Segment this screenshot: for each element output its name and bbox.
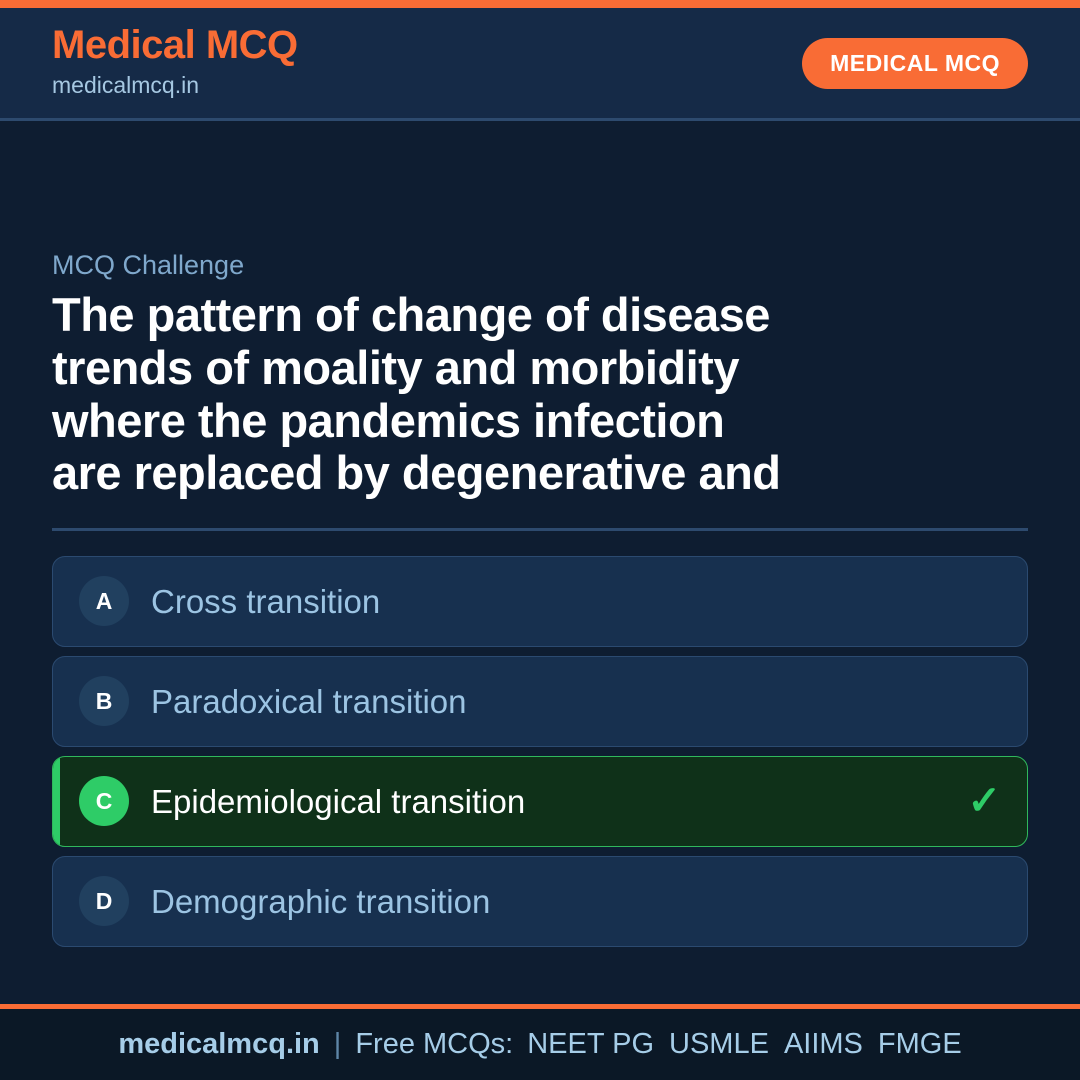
brand-subtitle: medicalmcq.in — [52, 68, 298, 103]
footer-bar: medicalmcq.in | Free MCQs: NEET PG USMLE… — [0, 1004, 1080, 1080]
option-letter-badge: C — [79, 776, 129, 826]
check-icon: ✓ — [967, 781, 1001, 821]
option-label: Paradoxical transition — [151, 682, 467, 722]
option-letter-badge: A — [79, 576, 129, 626]
options-list: A Cross transition ✓ B Paradoxical trans… — [52, 556, 1028, 947]
content-area: MCQ Challenge The pattern of change of d… — [0, 121, 1080, 1004]
header-badge: MEDICAL MCQ — [802, 38, 1028, 89]
option-letter-badge: D — [79, 876, 129, 926]
top-accent-bar — [0, 0, 1080, 8]
mcq-card: Medical MCQ medicalmcq.in MEDICAL MCQ MC… — [0, 0, 1080, 1080]
option-b[interactable]: B Paradoxical transition ✓ — [52, 656, 1028, 747]
footer-exam-item: USMLE — [669, 1028, 769, 1061]
footer-exam-item: FMGE — [878, 1028, 962, 1061]
option-label: Cross transition — [151, 582, 380, 622]
option-label: Epidemiological transition — [151, 782, 525, 822]
option-label: Demographic transition — [151, 882, 490, 922]
footer-separator: | — [334, 1028, 342, 1061]
question-line: trends of moality and morbidity — [52, 342, 1028, 395]
option-c[interactable]: C Epidemiological transition ✓ — [52, 756, 1028, 847]
footer-exam-list: NEET PG USMLE AIIMS FMGE — [527, 1028, 961, 1061]
footer-free-label: Free MCQs: — [355, 1028, 513, 1061]
footer-exam-item: NEET PG — [527, 1028, 654, 1061]
question-line: where the pandemics infection — [52, 395, 1028, 448]
option-d[interactable]: D Demographic transition ✓ — [52, 856, 1028, 947]
eyebrow-label: MCQ Challenge — [52, 249, 1028, 281]
footer-content: medicalmcq.in | Free MCQs: NEET PG USMLE… — [118, 1028, 961, 1061]
footer-site-label: medicalmcq.in — [118, 1028, 319, 1061]
question-text: The pattern of change of disease trends … — [52, 289, 1028, 500]
option-letter-badge: B — [79, 676, 129, 726]
option-a[interactable]: A Cross transition ✓ — [52, 556, 1028, 647]
footer-exam-item: AIIMS — [784, 1028, 863, 1061]
header-bar: Medical MCQ medicalmcq.in MEDICAL MCQ — [0, 8, 1080, 121]
question-line: The pattern of change of disease — [52, 289, 1028, 342]
brand-title: Medical MCQ — [52, 24, 298, 66]
brand: Medical MCQ medicalmcq.in — [52, 24, 298, 103]
question-divider — [52, 528, 1028, 531]
question-line: are replaced by degenerative and — [52, 447, 1028, 500]
